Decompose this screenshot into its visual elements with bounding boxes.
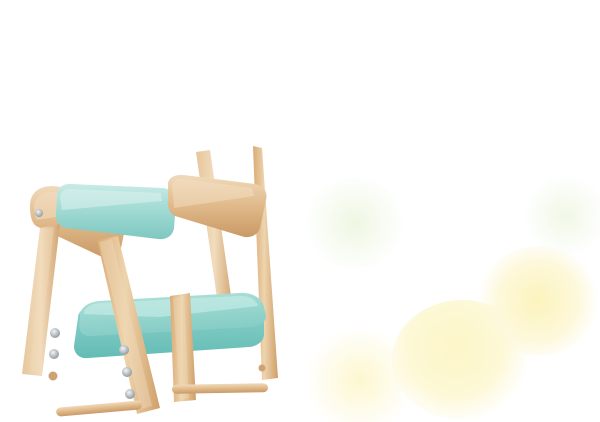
chair-seat-pad: [74, 293, 266, 358]
dotted-divider-top: [0, 62, 600, 82]
dotted-divider-feature: [282, 260, 592, 270]
feature-block-2: [282, 258, 592, 275]
feature-block-0: [282, 104, 592, 121]
check-point-banner: [0, 0, 600, 422]
dotted-divider-feature: [282, 336, 592, 346]
chair-stretcher-bar: [56, 383, 268, 417]
dotted-divider-feature: [282, 184, 592, 194]
chair-right-arm: [168, 175, 267, 237]
dotted-divider-feature: [282, 106, 592, 116]
feature-block-3: [282, 334, 592, 351]
feature-block-1: [282, 182, 592, 199]
product-image-kids-chair: [0, 88, 300, 422]
background-blob-yellow: [392, 300, 532, 420]
